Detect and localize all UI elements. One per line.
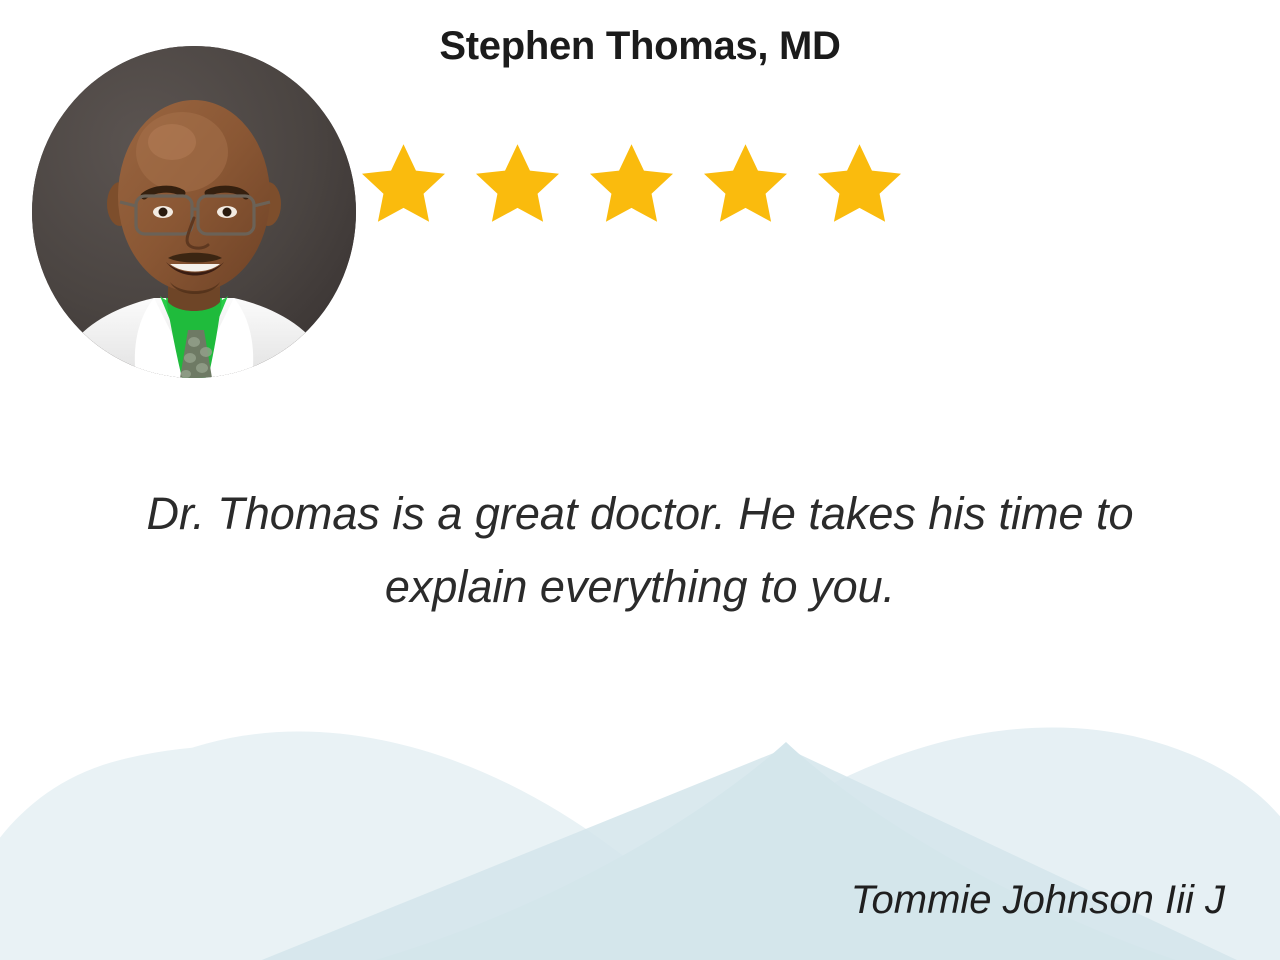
wave-shape-left <box>0 746 800 960</box>
testimonial-card: Stephen Thomas, MD Dr. Thomas is a great… <box>0 0 1280 960</box>
star-icon <box>590 142 673 222</box>
testimonial-quote: Dr. Thomas is a great doctor. He takes h… <box>100 478 1180 624</box>
avatar <box>32 46 356 378</box>
testimonial-author: Tommie Johnson Iii J <box>851 878 1225 923</box>
doctor-portrait-photo <box>32 46 356 378</box>
wave-shape-right <box>520 728 1280 960</box>
wave-shape-overlap-lower <box>200 748 1280 960</box>
star-icon <box>704 142 787 222</box>
page-title: Stephen Thomas, MD <box>360 24 920 68</box>
star-rating <box>362 142 922 222</box>
wave-shape-left-body <box>36 732 790 960</box>
star-icon <box>818 142 901 222</box>
star-icon <box>476 142 559 222</box>
star-icon <box>362 142 445 222</box>
wave-shape-overlap <box>300 742 1240 960</box>
